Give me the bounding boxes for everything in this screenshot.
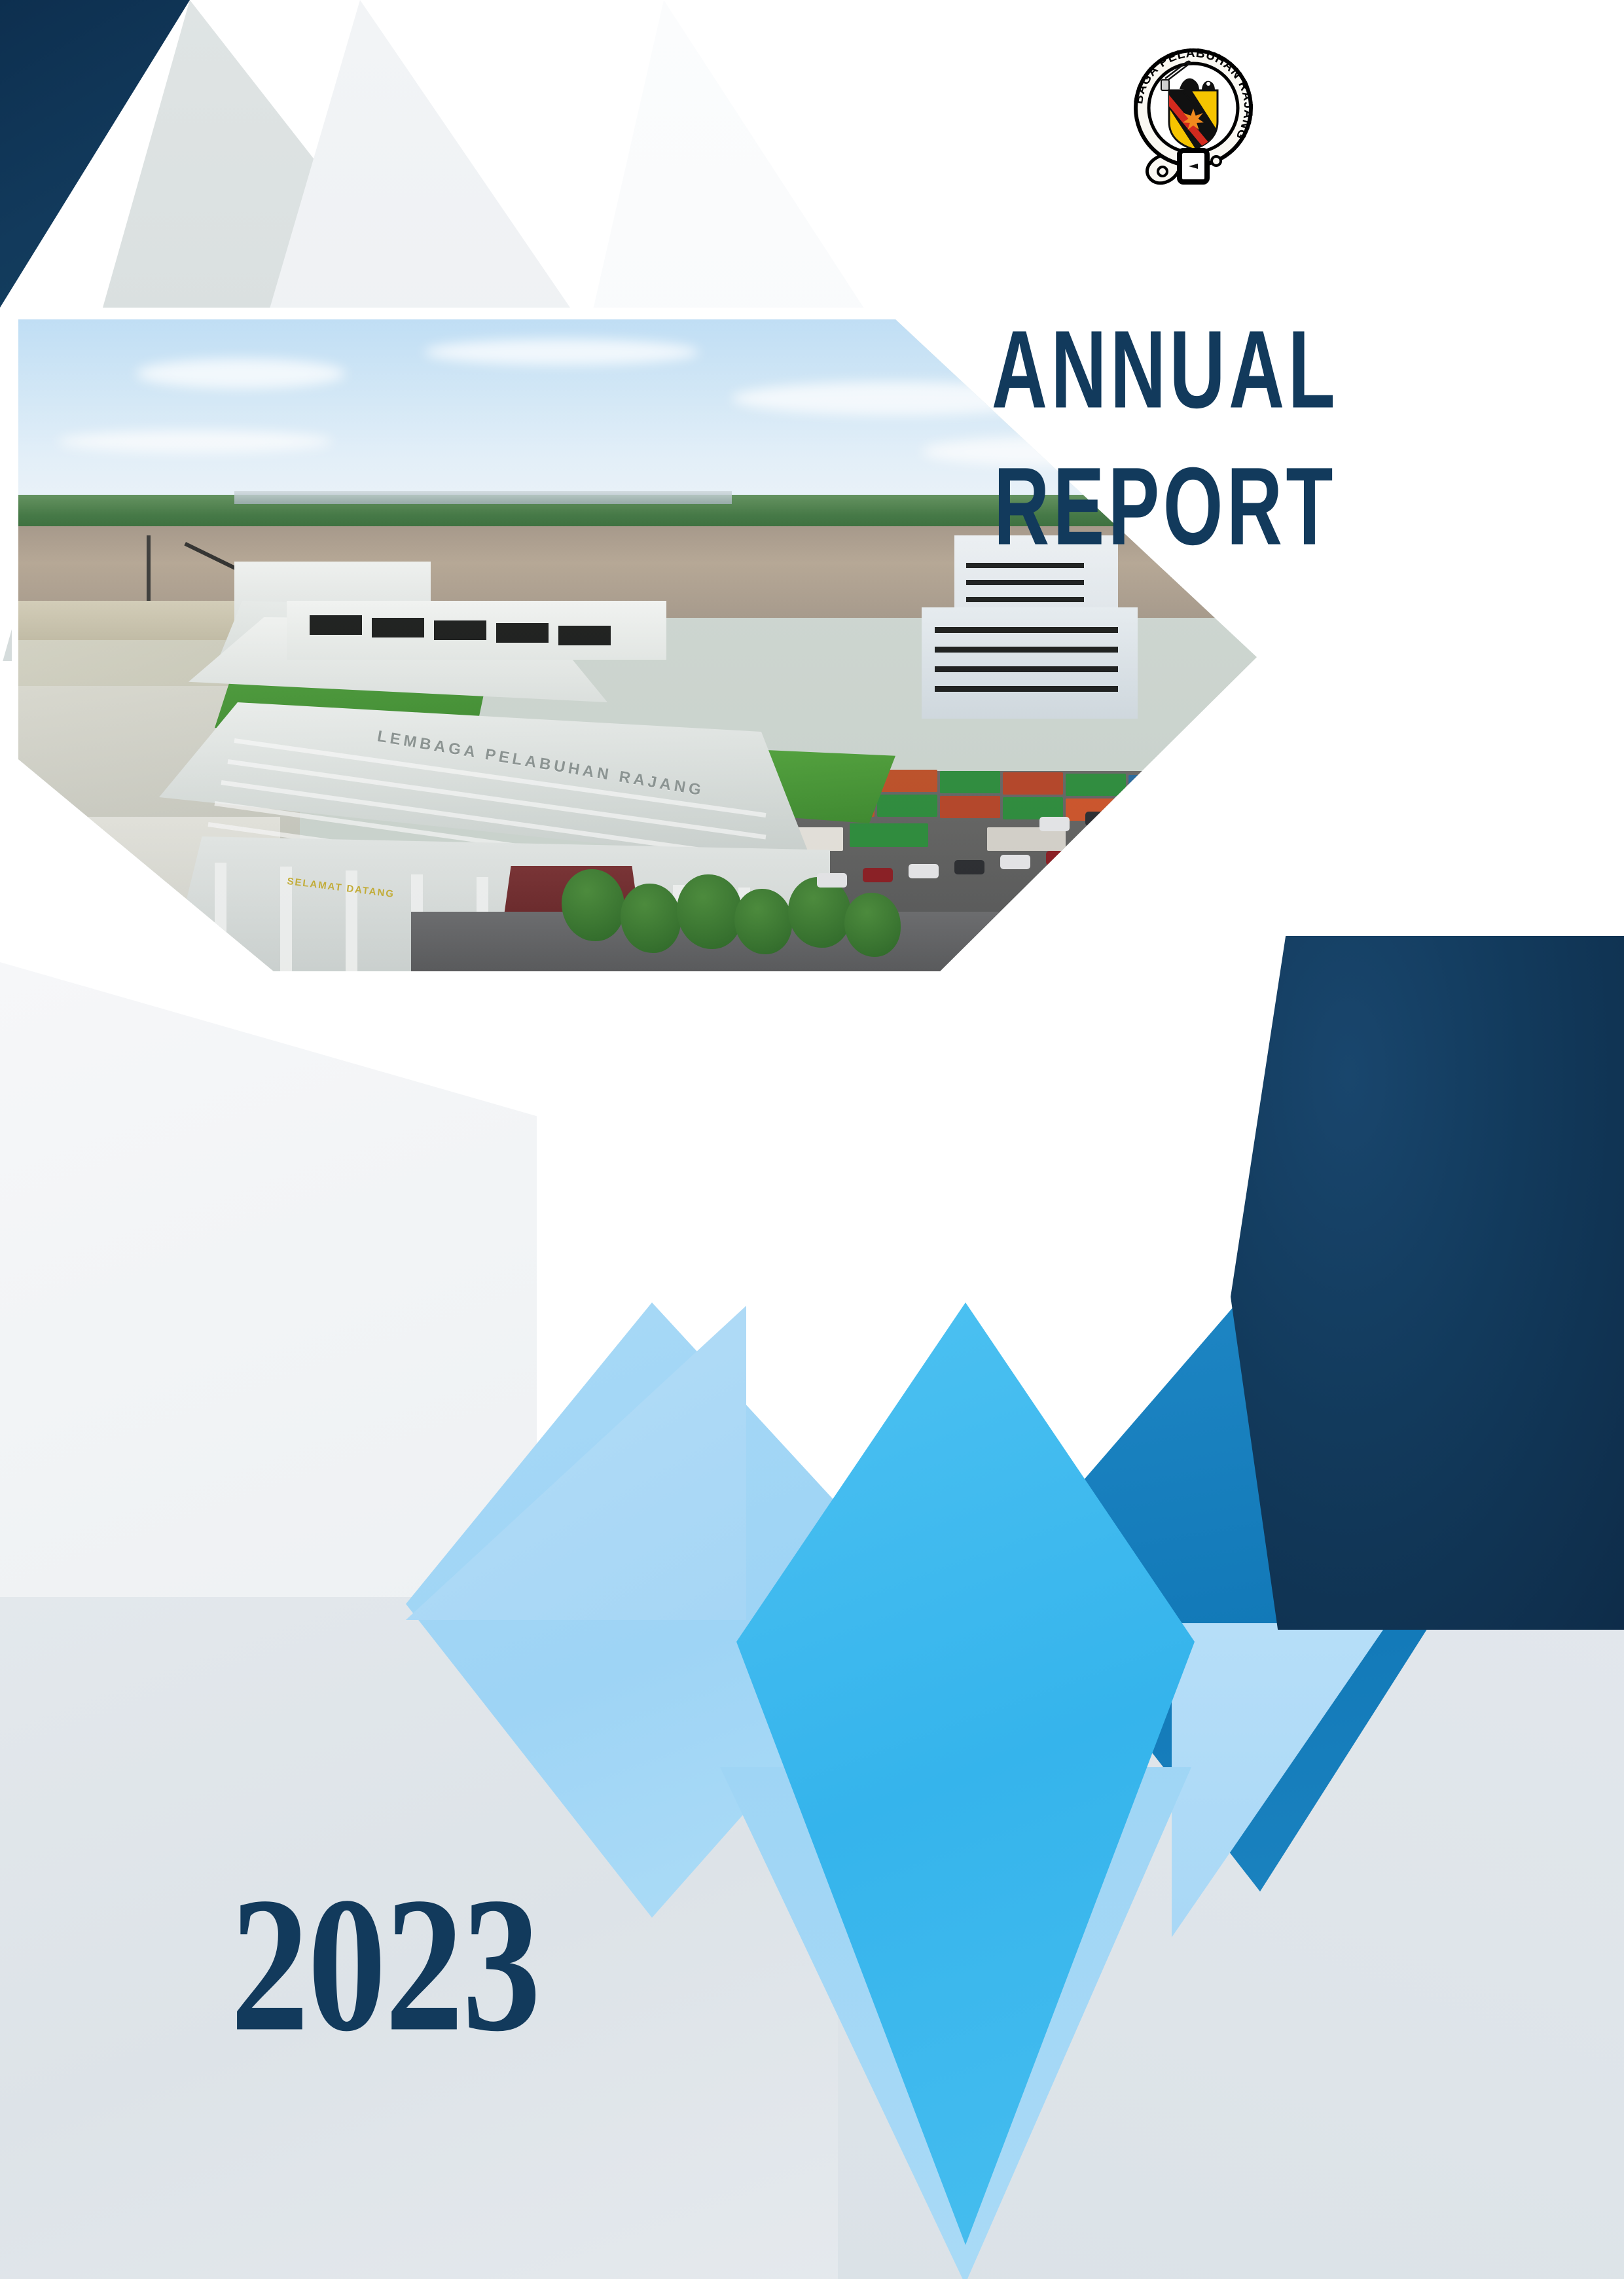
cover-title: ANNUAL REPORT: [877, 314, 1453, 536]
title-line-report: REPORT: [900, 451, 1430, 564]
organization-logo: LEMBAGA PELABUHAN RAJANG: [1125, 39, 1262, 196]
navy-hexagon-right: [1231, 936, 1624, 1630]
annual-report-cover-page: LEMBAGA PELABUHAN RAJANG SELAMAT DATANG …: [0, 0, 1624, 2279]
report-year: 2023: [230, 1869, 539, 2062]
title-line-annual: ANNUAL: [900, 314, 1430, 427]
